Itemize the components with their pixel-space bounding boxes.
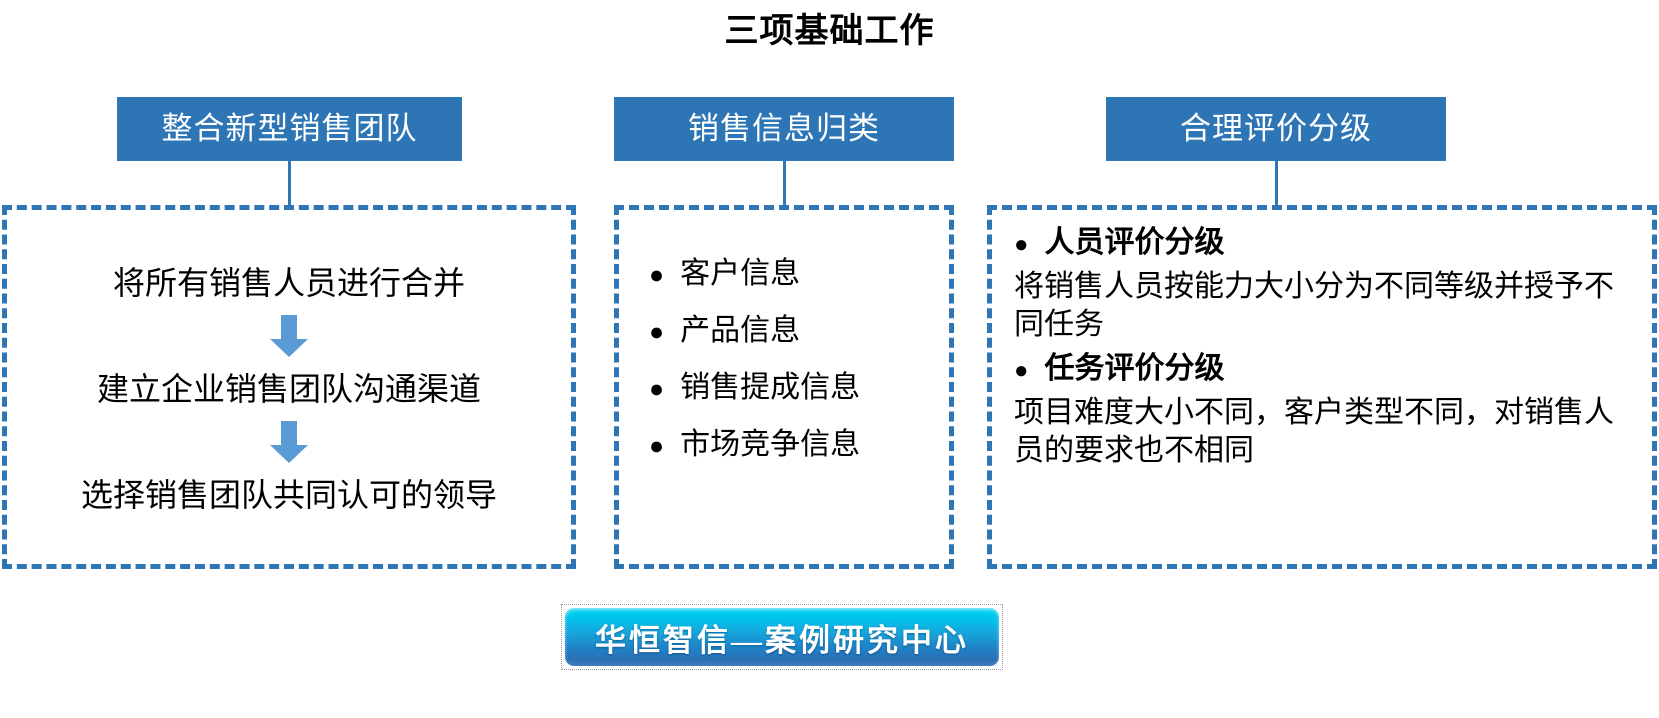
page-title: 三项基础工作 — [0, 8, 1659, 54]
flow-steps: 将所有销售人员进行合并 建立企业销售团队沟通渠道 选择销售团队共同认可的领导 — [7, 210, 571, 564]
footer-banner-frame: 华恒智信—案例研究中心 — [561, 604, 1003, 670]
column-header-3[interactable]: 合理评价分级 — [1106, 97, 1446, 161]
list-item: ● 销售提成信息 — [649, 370, 937, 406]
panel-evaluation-grading: ● 人员评价分级 将销售人员按能力大小分为不同等级并授予不同任务 ● 任务评价分… — [987, 205, 1657, 569]
footer-banner: 华恒智信—案例研究中心 — [565, 608, 999, 666]
list-item-label: 市场竞争信息 — [680, 427, 860, 463]
footer-banner-label: 华恒智信—案例研究中心 — [595, 615, 969, 660]
detail-heading-row: ● 人员评价分级 — [1014, 224, 1642, 262]
bullet-list: ● 客户信息 ● 产品信息 ● 销售提成信息 ● 市场竞争信息 — [649, 242, 937, 548]
slide-canvas: 三项基础工作 整合新型销售团队 将所有销售人员进行合并 建立企业销售团队沟通渠道… — [0, 0, 1659, 718]
bullet-dot-icon: ● — [649, 263, 664, 288]
list-item: ● 市场竞争信息 — [649, 427, 937, 463]
bullet-dot-icon: ● — [649, 377, 664, 402]
connector-line-1 — [288, 161, 291, 207]
detail-heading-row: ● 任务评价分级 — [1014, 350, 1642, 388]
arrow-down-icon — [266, 313, 312, 359]
detail-body: 将销售人员按能力大小分为不同等级并授予不同任务 — [1014, 268, 1614, 344]
list-item: ● 客户信息 — [649, 256, 937, 292]
flow-step-2: 建立企业销售团队沟通渠道 — [97, 369, 481, 409]
column-header-1[interactable]: 整合新型销售团队 — [117, 97, 462, 161]
list-item-label: 客户信息 — [680, 256, 800, 292]
list-item: ● 产品信息 — [649, 313, 937, 349]
connector-line-2 — [783, 161, 786, 207]
arrow-down-icon — [266, 419, 312, 465]
bullet-dot-icon: ● — [1014, 233, 1029, 257]
panel-integrate-sales-team: 将所有销售人员进行合并 建立企业销售团队沟通渠道 选择销售团队共同认可的领导 — [2, 205, 576, 569]
list-item-label: 产品信息 — [680, 313, 800, 349]
bullet-dot-icon: ● — [649, 434, 664, 459]
connector-line-3 — [1275, 161, 1278, 207]
column-header-2[interactable]: 销售信息归类 — [614, 97, 954, 161]
detail-block-task: ● 任务评价分级 项目难度大小不同，客户类型不同，对销售人员的要求也不相同 — [1014, 350, 1642, 470]
detail-body: 项目难度大小不同，客户类型不同，对销售人员的要求也不相同 — [1014, 394, 1614, 470]
detail-heading: 任务评价分级 — [1045, 350, 1225, 388]
flow-step-1: 将所有销售人员进行合并 — [113, 263, 465, 303]
list-item-label: 销售提成信息 — [680, 370, 860, 406]
panel-sales-info-classification: ● 客户信息 ● 产品信息 ● 销售提成信息 ● 市场竞争信息 — [614, 205, 954, 569]
bullet-dot-icon: ● — [1014, 359, 1029, 383]
detail-list: ● 人员评价分级 将销售人员按能力大小分为不同等级并授予不同任务 ● 任务评价分… — [1014, 224, 1642, 556]
flow-step-3: 选择销售团队共同认可的领导 — [81, 475, 497, 515]
detail-heading: 人员评价分级 — [1045, 224, 1225, 262]
bullet-dot-icon: ● — [649, 320, 664, 345]
detail-block-personnel: ● 人员评价分级 将销售人员按能力大小分为不同等级并授予不同任务 — [1014, 224, 1642, 344]
